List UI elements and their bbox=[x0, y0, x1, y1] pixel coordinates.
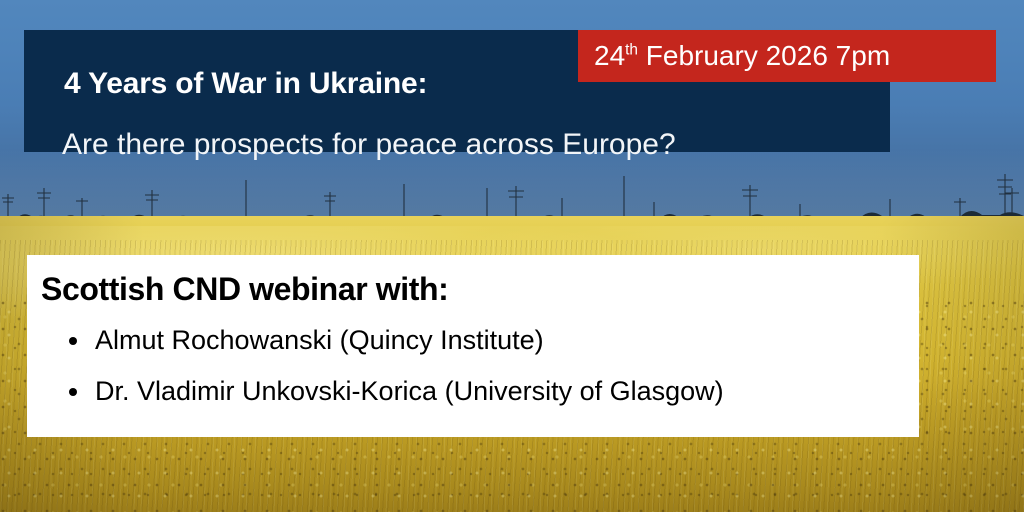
date-badge: 24th February 2026 7pm bbox=[578, 30, 996, 82]
headline-subtitle: Are there prospects for peace across Eur… bbox=[62, 130, 676, 160]
speaker-list: Almut Rochowanski (Quincy Institute) Dr.… bbox=[41, 327, 911, 405]
list-item: Dr. Vladimir Unkovski-Korica (University… bbox=[41, 378, 911, 405]
bullet-icon bbox=[69, 388, 77, 396]
list-item: Almut Rochowanski (Quincy Institute) bbox=[41, 327, 911, 354]
headline-title: 4 Years of War in Ukraine: bbox=[64, 69, 427, 99]
date-badge-text: 24th February 2026 7pm bbox=[594, 39, 890, 73]
webinar-promo-poster: 4 Years of War in Ukraine: Are there pro… bbox=[0, 0, 1024, 512]
date-ordinal-suffix: th bbox=[625, 42, 638, 59]
speaker-name: Almut Rochowanski (Quincy Institute) bbox=[95, 325, 544, 355]
date-day: 24 bbox=[594, 40, 625, 71]
speaker-card: Scottish CND webinar with: Almut Rochowa… bbox=[27, 255, 919, 437]
speaker-name: Dr. Vladimir Unkovski-Korica (University… bbox=[95, 376, 724, 406]
date-rest: February 2026 7pm bbox=[638, 40, 890, 71]
speaker-card-heading: Scottish CND webinar with: bbox=[41, 273, 448, 305]
bullet-icon bbox=[69, 337, 77, 345]
